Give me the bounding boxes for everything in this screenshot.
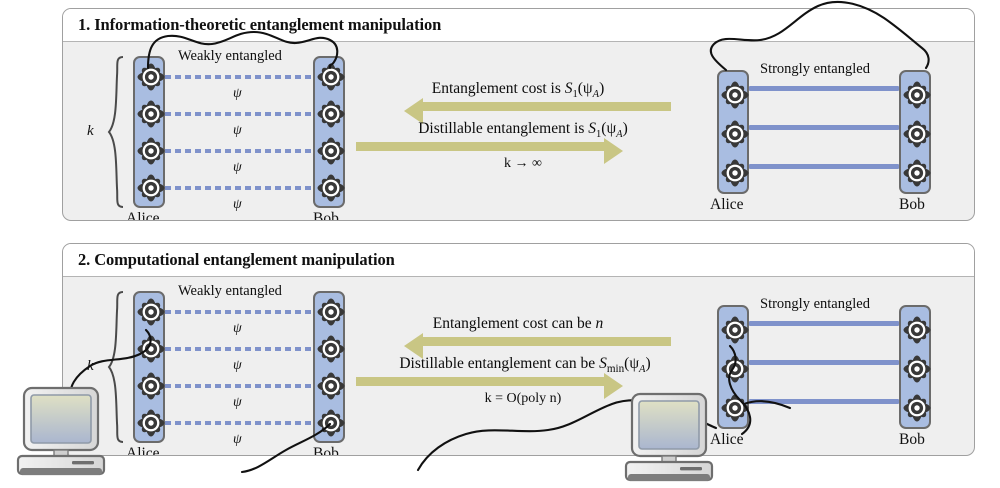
atom-icon (316, 62, 346, 92)
math-arg-close: ) (599, 80, 604, 97)
computer-left[interactable] (6, 382, 112, 482)
math-symbol: S (599, 355, 607, 372)
strong-link-1-p1 (749, 86, 899, 91)
alice-column-weak-p1 (133, 56, 165, 208)
bob-label-strong-p1: Bob (899, 196, 925, 214)
math-symbol: n (595, 315, 603, 332)
math-arg: (ψ (624, 355, 639, 372)
psi-label: ψ (233, 197, 242, 213)
atom-icon (720, 119, 750, 149)
alice-column-strong-p2 (717, 305, 749, 429)
alice-label-strong-p1: Alice (710, 196, 744, 214)
psi-label: ψ (233, 395, 242, 411)
atom-icon (316, 408, 346, 438)
atom-icon (902, 393, 932, 423)
arrow-label-text: Distillable entanglement can be (399, 355, 595, 372)
atom-icon (316, 173, 346, 203)
panel-computational: 2. Computational entanglement manipulati… (62, 243, 975, 456)
figure-canvas: 1. Information-theoretic entanglement ma… (0, 0, 1000, 488)
alice-label-weak-p1: Alice (126, 210, 160, 221)
computer-icon (614, 388, 720, 488)
psi-label: ψ (233, 86, 242, 102)
weak-entangled-label-p2: Weakly entangled (178, 283, 282, 300)
arrow-label-cost-p2: Entanglement cost can be n (348, 315, 688, 333)
panel-information-theoretic: 1. Information-theoretic entanglement ma… (62, 8, 975, 221)
psi-label: ψ (233, 358, 242, 374)
math-arg: (ψ (578, 80, 593, 97)
alice-column-strong-p1 (717, 70, 749, 194)
panel-2-body: Weakly entangled ψ ψ ψ ψ k Alice Bob Ent… (63, 277, 974, 456)
arrow-bar-distill-p2 (356, 377, 604, 386)
atom-icon (902, 119, 932, 149)
strong-link-1-p2 (749, 321, 899, 326)
panel-1-title: 1. Information-theoretic entanglement ma… (78, 15, 441, 35)
bob-label-weak-p2: Bob (313, 445, 339, 456)
math-arg-close: ) (645, 355, 650, 372)
arrow-bar-cost-p2 (423, 337, 671, 346)
strong-link-2-p2 (749, 360, 899, 365)
atom-icon (902, 354, 932, 384)
strong-entangled-label-p2: Strongly entangled (760, 296, 870, 313)
weak-link-4 (165, 186, 313, 190)
weak-link-3 (165, 149, 313, 153)
atom-icon (136, 297, 166, 327)
k-brace-p1 (103, 56, 125, 208)
weak-link-2 (165, 112, 313, 116)
atom-icon (720, 80, 750, 110)
weak-link-1-p2 (165, 310, 313, 314)
atom-icon (136, 371, 166, 401)
atom-icon (720, 158, 750, 188)
arrow-label-cost-p1: Entanglement cost is S1(ψA) (348, 80, 688, 100)
arrow-bar-cost-p1 (423, 102, 671, 111)
weak-link-1 (165, 75, 313, 79)
atom-icon (902, 80, 932, 110)
atom-icon (720, 315, 750, 345)
math-symbol: S (565, 80, 573, 97)
atom-icon (902, 158, 932, 188)
psi-label: ψ (233, 321, 242, 337)
math-symbol: S (588, 120, 596, 137)
math-arg-close: ) (623, 120, 628, 137)
arrow-label-distill-p2: Distillable entanglement can be Smin(ψA) (325, 355, 725, 375)
psi-label: ψ (233, 123, 242, 139)
bob-column-strong-p2 (899, 305, 931, 429)
bob-label-strong-p2: Bob (899, 431, 925, 449)
atom-icon (136, 173, 166, 203)
atom-icon (316, 297, 346, 327)
atom-icon (720, 393, 750, 423)
k-label-p2: k (87, 358, 94, 375)
bob-column-strong-p1 (899, 70, 931, 194)
weak-link-4-p2 (165, 421, 313, 425)
math-arg: (ψ (601, 120, 616, 137)
atom-icon (136, 136, 166, 166)
atom-icon (902, 315, 932, 345)
strong-link-2-p1 (749, 125, 899, 130)
computer-icon (6, 382, 112, 482)
strong-link-3-p2 (749, 399, 899, 404)
weak-link-2-p2 (165, 347, 313, 351)
k-label-p1: k (87, 123, 94, 140)
atom-icon (136, 62, 166, 92)
arrow-label-text: Entanglement cost is (432, 80, 561, 97)
alice-column-weak-p2 (133, 291, 165, 443)
arrow-sublabel-p1: k → ∞ (338, 156, 708, 172)
atom-icon (136, 99, 166, 129)
bob-label-weak-p1: Bob (313, 210, 339, 221)
weak-entangled-label-p1: Weakly entangled (178, 48, 282, 65)
strong-link-3-p1 (749, 164, 899, 169)
psi-label: ψ (233, 160, 242, 176)
atom-icon (136, 334, 166, 364)
panel-2-title: 2. Computational entanglement manipulati… (78, 250, 395, 270)
panel-1-body: Weakly entangled ψ ψ ψ ψ k Alice Bob Ent… (63, 42, 974, 221)
atom-icon (720, 354, 750, 384)
computer-right[interactable] (614, 388, 720, 488)
arrow-label-text: Distillable entanglement is (418, 120, 584, 137)
arrow-bar-distill-p1 (356, 142, 604, 151)
atom-icon (136, 408, 166, 438)
weak-link-3-p2 (165, 384, 313, 388)
alice-label-weak-p2: Alice (126, 445, 160, 456)
strong-entangled-label-p1: Strongly entangled (760, 61, 870, 78)
arrow-label-text: Entanglement cost can be (433, 315, 592, 332)
arrow-label-distill-p1: Distillable entanglement is S1(ψA) (338, 120, 708, 140)
psi-label: ψ (233, 432, 242, 448)
